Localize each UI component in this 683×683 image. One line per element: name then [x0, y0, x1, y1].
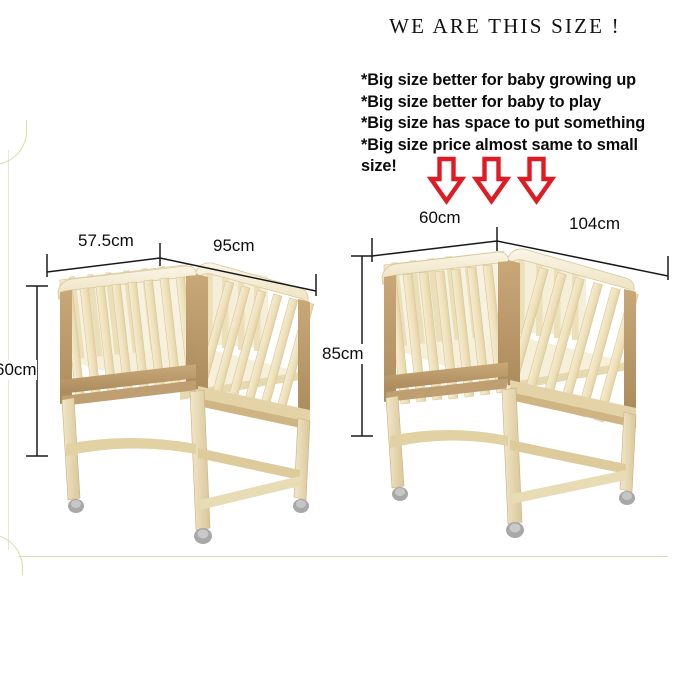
small-crib-height-label: 60cm — [0, 360, 37, 380]
benefit-item-1: *Big size better for baby growing up — [361, 70, 659, 92]
frame-corner-bottom-left — [0, 534, 23, 575]
small-crib-side-panel — [58, 266, 198, 406]
product-size-comparison-image: WE ARE THIS SIZE ! *Big size better for … — [0, 0, 683, 683]
large-crib-deck — [390, 334, 628, 392]
large-crib-length-label: 104cm — [569, 214, 620, 234]
small-crib-head-panel — [195, 263, 314, 430]
frame-corner-top-left — [0, 120, 27, 165]
frame-line-bottom — [18, 556, 668, 557]
small-crib-length-label: 95cm — [213, 236, 255, 256]
small-crib-far-head-panel — [196, 268, 268, 351]
small-crib-back-panel — [60, 264, 192, 366]
frame-line-left — [8, 150, 9, 550]
small-crib-deck — [66, 346, 300, 400]
benefit-item-3: *Big size has space to put something — [361, 113, 659, 135]
large-crib-legs — [386, 388, 636, 538]
benefits-list: *Big size better for baby growing up *Bi… — [361, 70, 659, 178]
small-crib-legs — [62, 390, 310, 544]
benefit-item-4: *Big size price almost same to small siz… — [361, 135, 659, 178]
large-crib-height-label: 85cm — [322, 344, 364, 364]
small-crib-width-label: 57.5cm — [78, 231, 134, 251]
large-crib-far-head-panel — [508, 256, 586, 340]
large-crib-width-label: 60cm — [419, 208, 461, 228]
benefit-item-2: *Big size better for baby to play — [361, 92, 659, 114]
headline-text: WE ARE THIS SIZE ! — [385, 14, 625, 39]
large-crib-side-panel — [382, 252, 510, 404]
large-crib-head-panel — [505, 249, 639, 428]
large-crib-back-panel — [384, 251, 504, 352]
